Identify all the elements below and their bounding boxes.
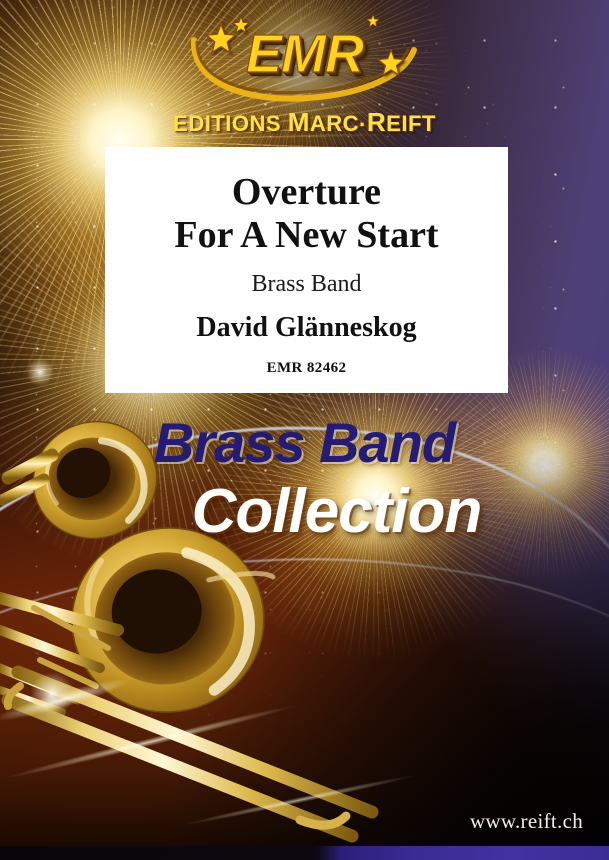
title-panel: Overture For A New Start Brass Band Davi… [105, 147, 508, 393]
composer-name: David Glänneskog [196, 312, 416, 344]
series-wordmark-line-2: Collection [0, 481, 609, 543]
emr-logo: EMR [180, 14, 430, 100]
publisher-name: EDITIONS MARC·REIFT [0, 107, 609, 138]
publisher-name-arc: ARC [310, 111, 359, 136]
catalog-number: EMR 82462 [267, 360, 347, 377]
emr-logotype: EMR [180, 23, 430, 85]
bottom-color-bar [0, 846, 609, 860]
website-url[interactable]: www.reift.ch [470, 809, 583, 834]
publisher-logo-block: EMR EDITIONS MARC·REIFT [0, 14, 609, 138]
work-title: Overture For A New Start [174, 171, 438, 257]
series-wordmark: Brass Band Collection [0, 415, 609, 543]
publisher-name-r: R [367, 107, 386, 137]
work-title-line-2: For A New Start [174, 214, 438, 257]
album-cover: EMR EDITIONS MARC·REIFT Overture For A N… [0, 0, 609, 860]
publisher-name-separator: · [359, 112, 367, 137]
publisher-name-m: M [288, 107, 310, 137]
ensemble-label: Brass Band [252, 271, 362, 298]
publisher-name-eift: EIFT [386, 111, 436, 136]
work-title-line-1: Overture [174, 171, 438, 214]
series-wordmark-line-1: Brass Band [0, 415, 609, 471]
publisher-name-editions: EDITIONS [173, 111, 281, 136]
